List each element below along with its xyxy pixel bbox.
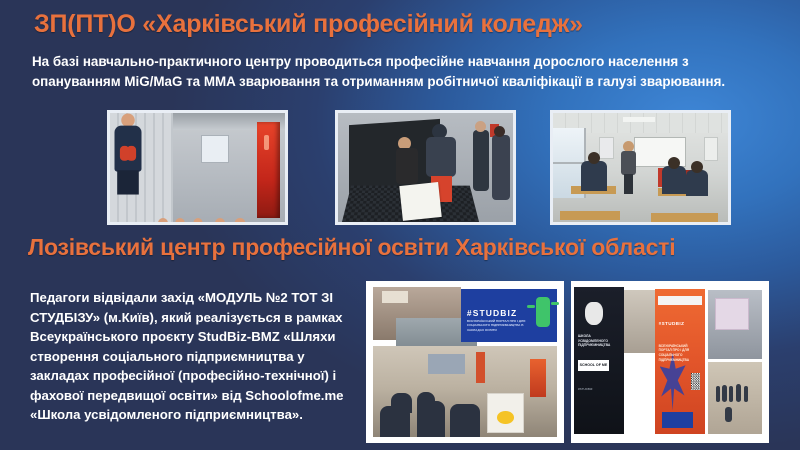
student-body bbox=[426, 137, 456, 177]
paper-document bbox=[399, 182, 441, 221]
workshop-window bbox=[201, 135, 229, 163]
attendee-figure bbox=[736, 384, 740, 402]
dark-banner-text: ШКОЛА УСВІДОМЛЕНОГО ПІДПРИЄМНИЦТВА bbox=[578, 334, 618, 348]
audience-figure bbox=[450, 404, 479, 437]
photo-scene bbox=[338, 113, 513, 222]
studbiz-banner: #STUDBIZ ВСЕУКРАЇНСЬКИЙ ПОРТАЛ ПРО І ДЛЯ… bbox=[461, 289, 557, 342]
welding-curtain bbox=[257, 122, 280, 218]
collage-photo-conference bbox=[373, 346, 557, 436]
worker-glove-right bbox=[119, 146, 128, 161]
worker-head bbox=[234, 218, 245, 225]
teacher-body bbox=[621, 151, 636, 175]
collage-studbiz-banners: ШКОЛА УСВІДОМЛЕНОГО ПІДПРИЄМНИЦТВА SCHOO… bbox=[571, 281, 769, 443]
worker-head bbox=[193, 218, 202, 225]
slide-canvas: ЗП(ПТ)О «Харківський професійний коледж»… bbox=[0, 0, 800, 450]
collage-photo-attendees bbox=[708, 362, 762, 434]
worker-head bbox=[215, 218, 225, 225]
audience-figure bbox=[417, 392, 435, 410]
studbiz-banner-tag: #STUDBIZ bbox=[467, 308, 517, 318]
photo-classroom-lesson bbox=[550, 110, 731, 225]
poster-board bbox=[487, 393, 524, 433]
orange-banner-title: #STUDBIZ bbox=[659, 321, 701, 326]
photo-scene bbox=[553, 113, 728, 222]
bottom-paragraph: Педагоги відвідали захід «МОДУЛЬ №2 ТОТ … bbox=[30, 288, 348, 425]
worker-legs bbox=[117, 171, 139, 195]
bystander-figure bbox=[492, 135, 510, 200]
banner-logo-strip bbox=[658, 296, 702, 305]
presentation-screen bbox=[715, 298, 749, 330]
attendee-figure bbox=[729, 386, 733, 403]
cactus-icon bbox=[536, 297, 549, 327]
student-desk bbox=[651, 213, 718, 222]
rollup-banner bbox=[476, 352, 485, 383]
banner-footer-block bbox=[662, 412, 693, 428]
teacher-legs bbox=[624, 174, 633, 194]
projector-screen bbox=[428, 354, 465, 374]
page-title: ЗП(ПТ)О «Харківський професійний коледж» bbox=[34, 10, 583, 39]
audience-figure bbox=[391, 393, 411, 413]
bystander-figure bbox=[473, 130, 489, 191]
student-figure bbox=[581, 161, 607, 191]
worker-head bbox=[158, 218, 168, 225]
orange-rollup-banner: #STUDBIZ ВСЕУКРАЇНСЬКИЙ ПОРТАЛ ПРО І ДЛЯ… bbox=[655, 289, 705, 434]
section-title-lozova: Лозівський центр професійної освіти Харк… bbox=[28, 234, 675, 261]
attendee-figure bbox=[722, 385, 726, 402]
worker-head bbox=[175, 218, 185, 225]
ceiling-lamp bbox=[623, 117, 655, 121]
photo-welding-table-signing bbox=[335, 110, 516, 225]
qr-code-icon bbox=[691, 373, 700, 390]
brand-logo-icon bbox=[585, 302, 603, 325]
collage-photo-presentation bbox=[708, 290, 762, 359]
dark-banner-chip: SCHOOL OF ME bbox=[578, 360, 609, 370]
intro-paragraph: На базі навчально-практичного центру про… bbox=[32, 52, 772, 92]
student-desk bbox=[560, 211, 620, 220]
orange-banner-lines: ВСЕУКРАЇНСЬКИЙ ПОРТАЛ ПРО І ДЛЯ СОЦІАЛЬН… bbox=[659, 344, 698, 362]
photo-scene bbox=[110, 113, 285, 222]
dark-banner-footer: #STUDBIZ bbox=[578, 387, 618, 391]
teacher-figure bbox=[621, 141, 635, 193]
photo-welding-workshop-group bbox=[107, 110, 288, 225]
collage-studbiz-event: #STUDBIZ ВСЕУКРАЇНСЬКИЙ ПОРТАЛ ПРО І ДЛЯ… bbox=[366, 281, 564, 443]
student-figure bbox=[686, 170, 708, 196]
attendee-figure bbox=[716, 386, 720, 402]
wall-poster bbox=[599, 137, 615, 159]
student-figure bbox=[662, 166, 686, 194]
dark-banner-chip-label: SCHOOL OF ME bbox=[578, 360, 609, 370]
rollup-banner bbox=[530, 359, 547, 397]
attendee-figure bbox=[744, 386, 748, 402]
wall-poster bbox=[704, 137, 718, 161]
dark-rollup-banner: ШКОЛА УСВІДОМЛЕНОГО ПІДПРИЄМНИЦТВА SCHOO… bbox=[574, 287, 624, 434]
attendee-figure bbox=[725, 407, 733, 423]
studbiz-banner-subtitle: ВСЕУКРАЇНСЬКИЙ ПОРТАЛ ПРО І ДЛЯ СОЦІАЛЬН… bbox=[467, 319, 538, 332]
instructor-body bbox=[396, 148, 418, 184]
